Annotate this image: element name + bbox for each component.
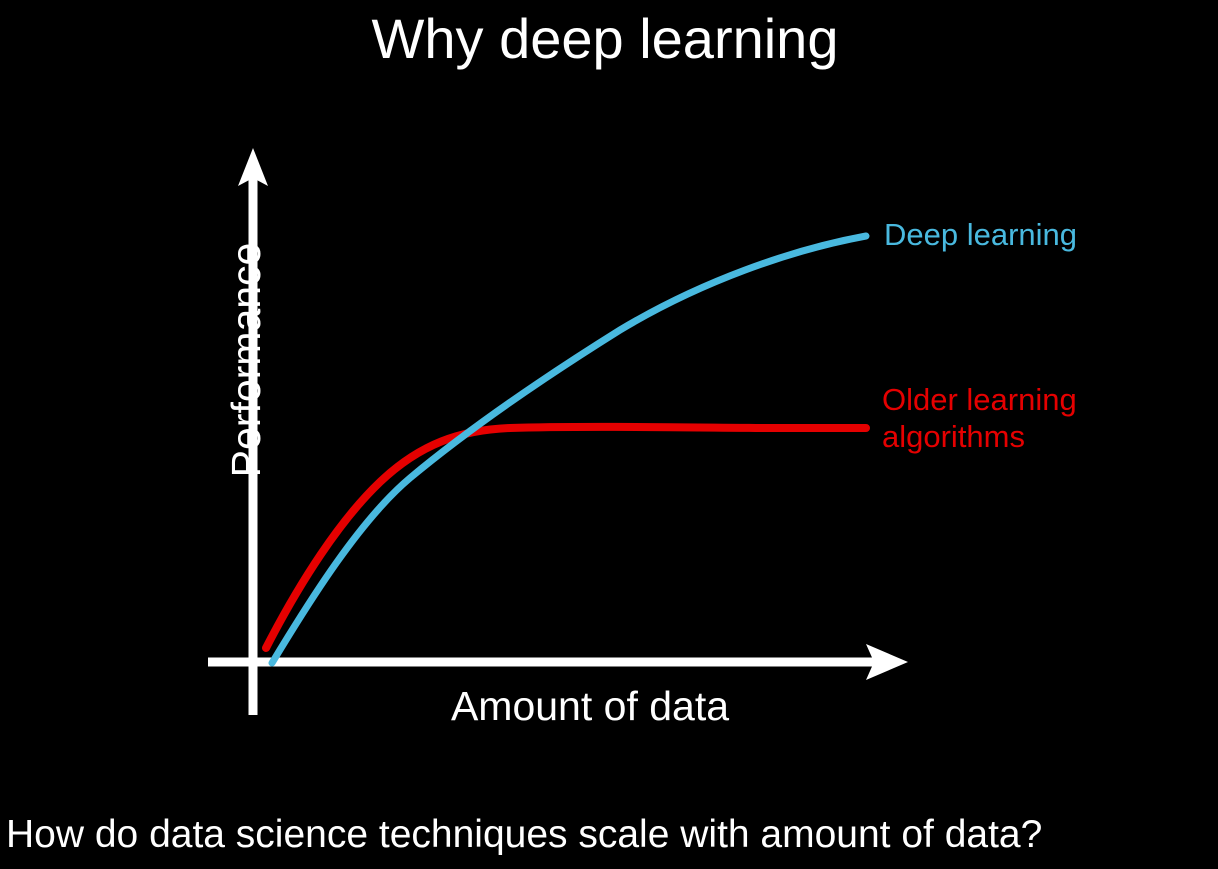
series-label-deep-learning: Deep learning (884, 217, 1077, 254)
x-axis (208, 644, 908, 680)
slide-caption: How do data science techniques scale wit… (6, 814, 1216, 857)
x-axis-title: Amount of data (350, 686, 830, 727)
slide-canvas: Why deep learning Performance Amount of … (0, 0, 1218, 869)
series-label-older-algorithms: Older learning algorithms (882, 382, 1077, 455)
y-axis-title: Performance (226, 160, 267, 560)
series-line-deep-learning (272, 236, 866, 663)
performance-vs-data-chart: Performance Amount of data Deep learning… (0, 0, 1218, 780)
